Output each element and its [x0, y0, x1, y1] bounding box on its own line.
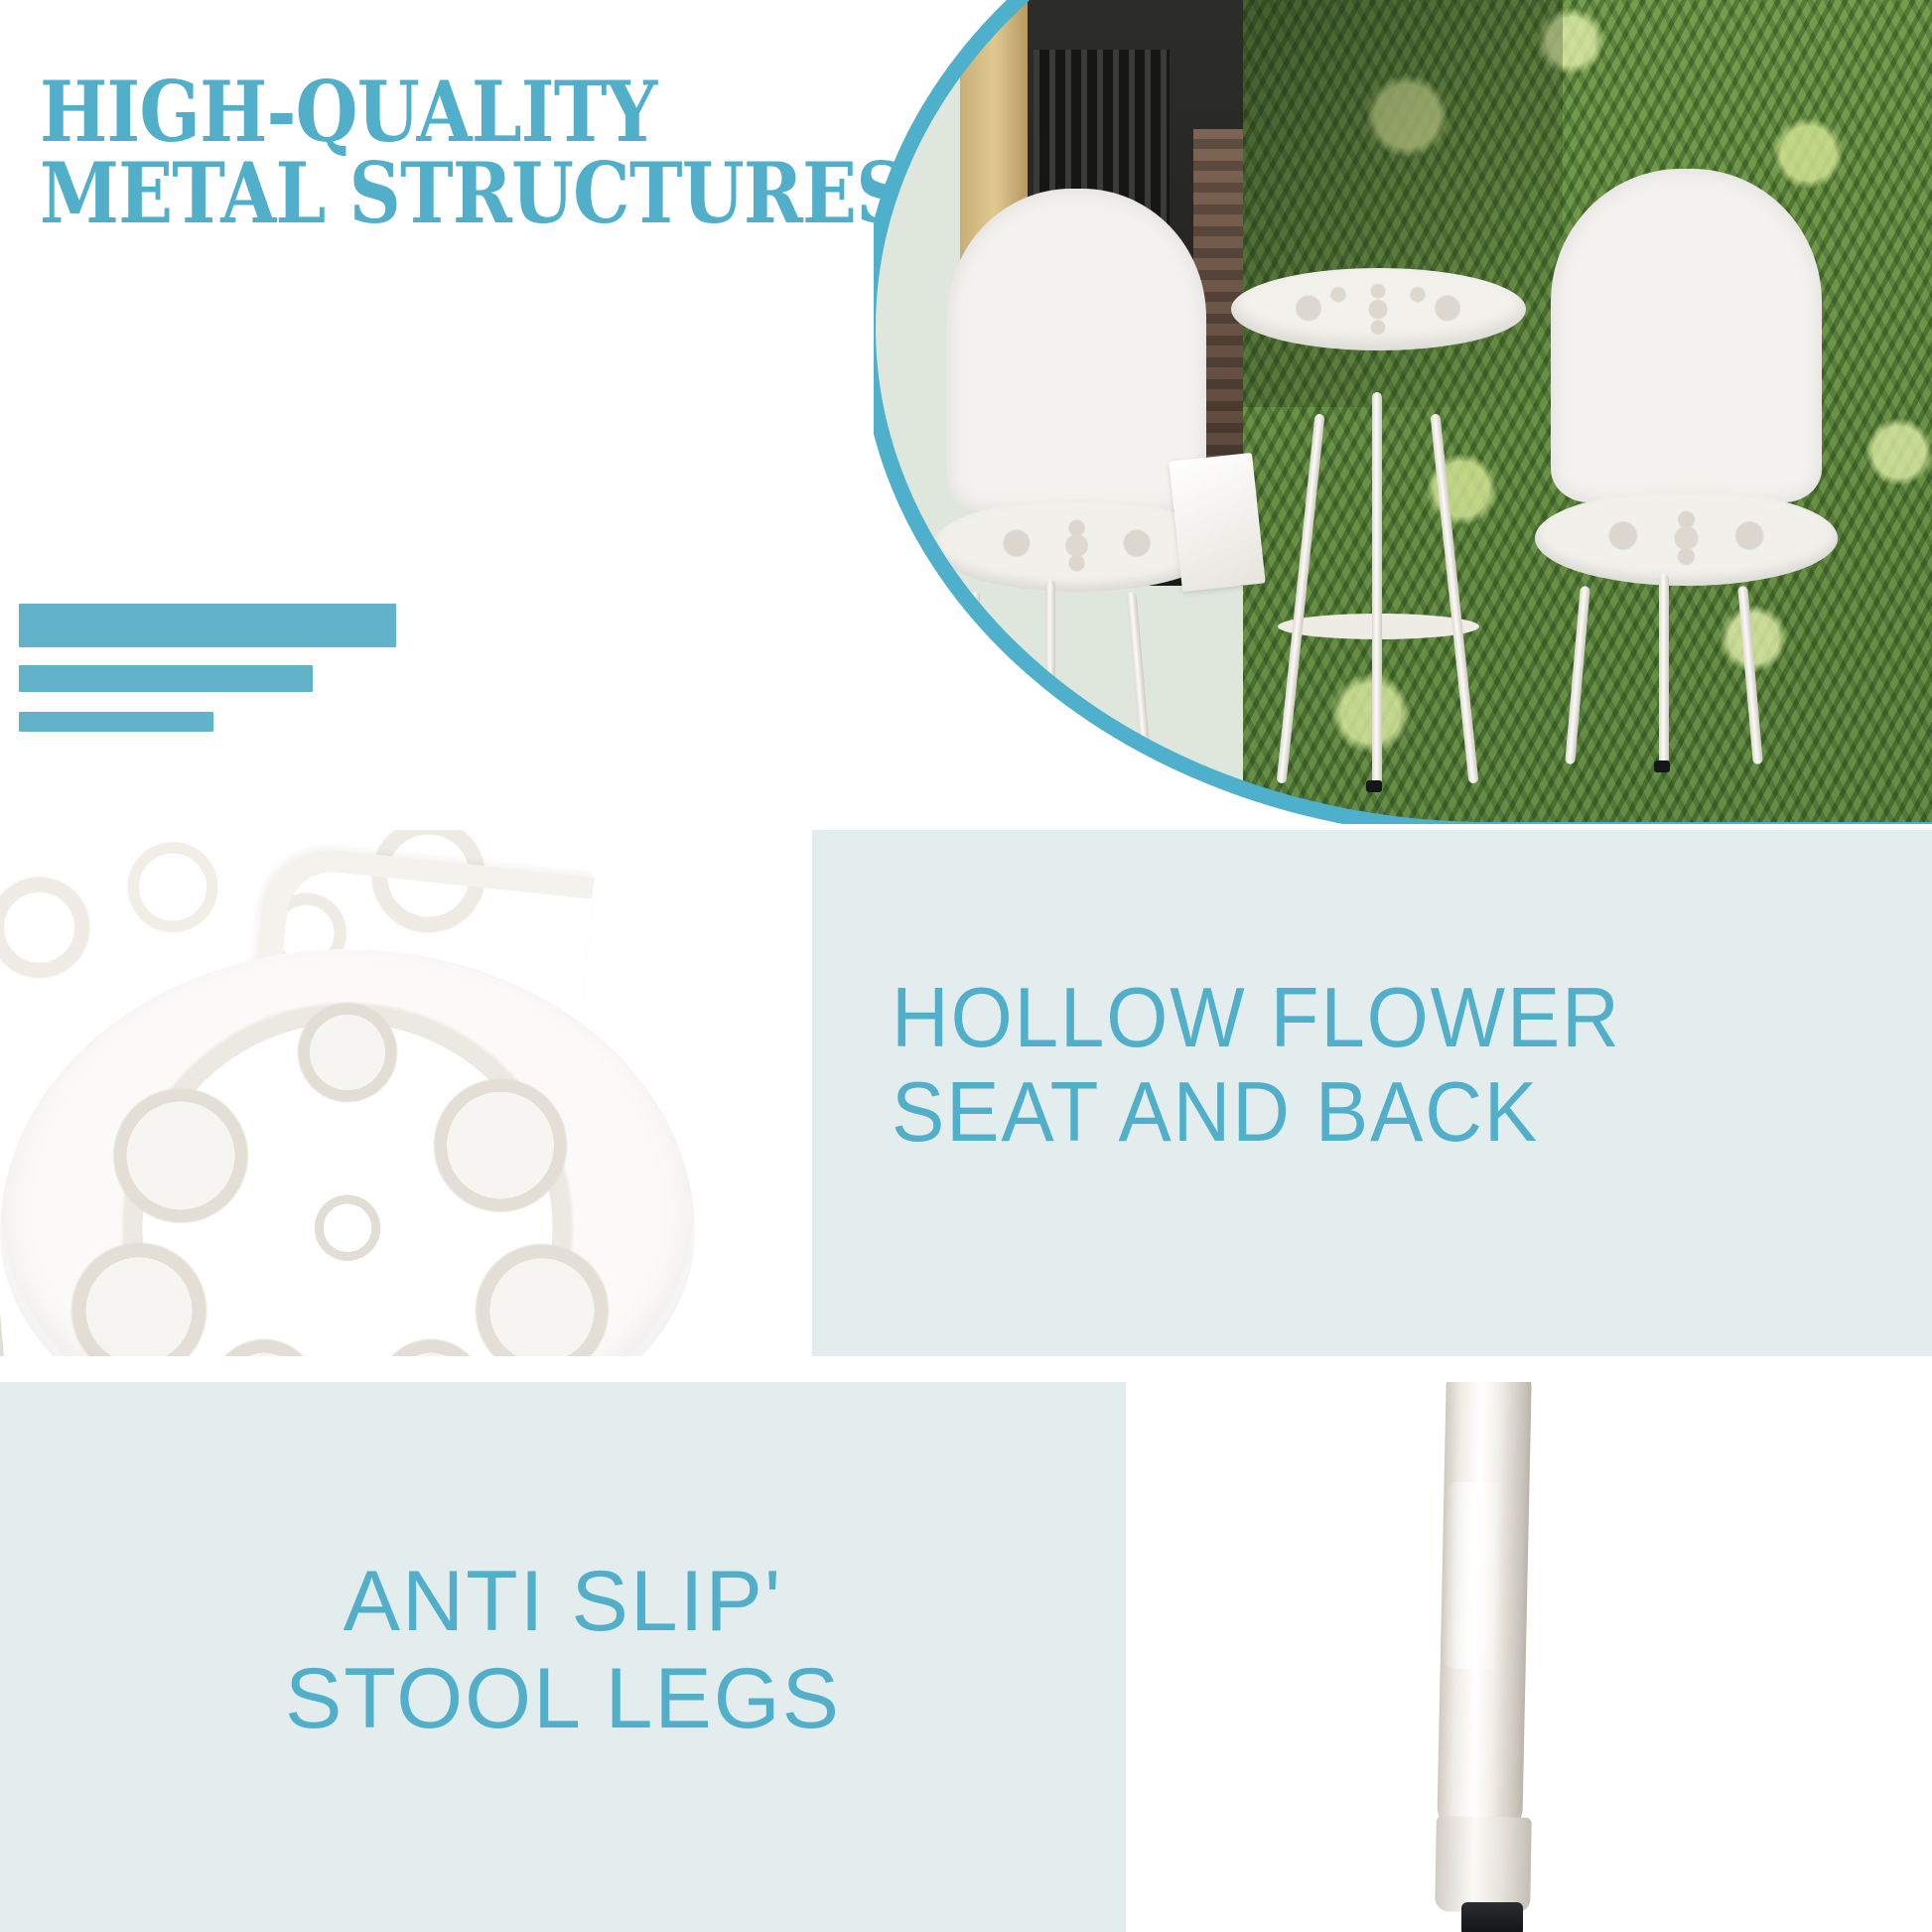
- anti-slip-panel: ANTI SLIP' STOOL LEGS: [0, 1382, 1126, 1932]
- anti-slip-heading: ANTI SLIP' STOOL LEGS: [0, 1553, 1126, 1747]
- anti-heading-line-2: STOOL LEGS: [0, 1650, 1126, 1747]
- decorative-bar-group: [19, 604, 396, 732]
- hero-photo-clip: [874, 0, 1932, 824]
- table-top: [1231, 268, 1527, 350]
- hollow-flower-heading: HOLLOW FLOWER SEAT AND BACK: [892, 971, 1825, 1160]
- hero-photo: [874, 0, 1932, 824]
- bistro-chair-left: [947, 189, 1205, 764]
- chair-leg: [1565, 586, 1590, 764]
- hero-section: HIGH-QUALITY METAL STRUCTURES: [0, 0, 1932, 824]
- chair-leg: [1045, 580, 1055, 764]
- chair-leg: [1126, 592, 1151, 764]
- hollow-heading-line-1: HOLLOW FLOWER: [892, 971, 1825, 1065]
- chair-leg: [955, 592, 980, 764]
- bistro-chair-right: [1551, 169, 1822, 764]
- anti-slip-foot-cap: [1461, 1902, 1523, 1932]
- anti-heading-line-1: ANTI SLIP': [0, 1553, 1126, 1650]
- decorative-bar-1: [19, 604, 396, 647]
- decorative-bar-2: [19, 665, 313, 692]
- hollow-heading-line-2: SEAT AND BACK: [892, 1065, 1825, 1160]
- table-foot-cap: [1366, 780, 1382, 792]
- anti-slip-photo: [1126, 1382, 1932, 1932]
- ornate-seat-closeup: [0, 830, 812, 1356]
- hollow-flower-section: HOLLOW FLOWER SEAT AND BACK: [0, 830, 1932, 1356]
- hollow-flower-panel: HOLLOW FLOWER SEAT AND BACK: [812, 830, 1932, 1356]
- infographic-page: HIGH-QUALITY METAL STRUCTURES: [0, 0, 1932, 1932]
- hollow-flower-photo: [0, 830, 812, 1356]
- stool-leg-cuff: [1435, 1816, 1532, 1913]
- anti-slip-section: ANTI SLIP' STOOL LEGS: [0, 1382, 1932, 1932]
- chair-leg: [1738, 586, 1764, 764]
- chair-back: [947, 189, 1205, 511]
- hero-title: HIGH-QUALITY METAL STRUCTURES: [40, 71, 808, 235]
- chair-leg: [1659, 574, 1669, 764]
- hero-title-line-2: METAL STRUCTURES: [40, 153, 808, 234]
- table-leg: [1372, 392, 1382, 784]
- chair-back: [1551, 169, 1822, 502]
- chair-foot-cap: [1654, 760, 1670, 772]
- garden-scene: [874, 0, 1932, 824]
- decorative-bar-3: [19, 712, 213, 732]
- stool-leg: [1437, 1382, 1532, 1838]
- chair-foot-cap: [1040, 760, 1056, 772]
- chair-seat: [1535, 490, 1839, 586]
- table-leg: [1277, 413, 1325, 783]
- hero-title-line-1: HIGH-QUALITY: [40, 71, 808, 153]
- bistro-table: [1231, 268, 1527, 784]
- table-leg: [1430, 413, 1478, 783]
